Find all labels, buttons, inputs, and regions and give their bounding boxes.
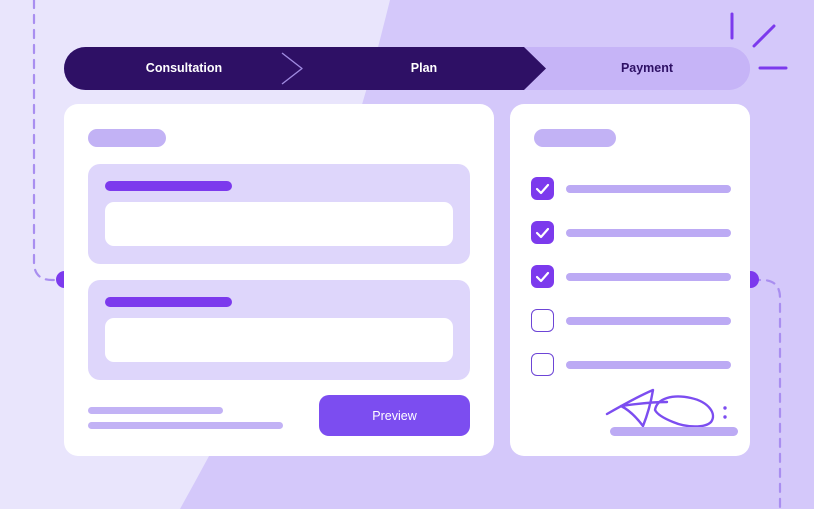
checkbox-checked-icon-1[interactable] [531, 177, 554, 200]
field-input-2[interactable] [105, 318, 453, 362]
checklist-item-5[interactable] [531, 353, 731, 377]
signature-baseline [610, 427, 738, 436]
signature-area[interactable] [595, 386, 740, 444]
progress-stepper[interactable]: Consultation Plan Payment [64, 47, 750, 90]
checklist-item-1[interactable] [531, 177, 731, 201]
checklist-card [510, 104, 750, 456]
form-card-title-placeholder [88, 129, 166, 147]
screen-root: Consultation Plan Payment Preview [0, 0, 814, 509]
form-footer-note-line-1 [88, 407, 223, 414]
checklist-label-placeholder-5 [566, 361, 731, 369]
field-input-1[interactable] [105, 202, 453, 246]
checklist-label-placeholder-3 [566, 273, 731, 281]
form-field-group-2 [88, 280, 470, 380]
field-label-placeholder-1 [105, 181, 232, 191]
checkbox-checked-icon-3[interactable] [531, 265, 554, 288]
checklist-card-title-placeholder [534, 129, 616, 147]
form-footer-note-line-2 [88, 422, 283, 429]
form-field-group-1 [88, 164, 470, 264]
preview-button[interactable]: Preview [319, 395, 470, 436]
field-label-placeholder-2 [105, 297, 232, 307]
checklist-label-placeholder-2 [566, 229, 731, 237]
stepper-step-payment[interactable]: Payment [544, 47, 750, 90]
checklist-label-placeholder-4 [566, 317, 731, 325]
checkbox-checked-icon-2[interactable] [531, 221, 554, 244]
form-card: Preview [64, 104, 494, 456]
signature-scribble-icon [595, 386, 740, 430]
checkbox-unchecked-icon-4[interactable] [531, 309, 554, 332]
stepper-step-plan[interactable]: Plan [304, 47, 544, 90]
checklist-label-placeholder-1 [566, 185, 731, 193]
checklist-item-2[interactable] [531, 221, 731, 245]
checklist-item-4[interactable] [531, 309, 731, 333]
stepper-step-consultation[interactable]: Consultation [64, 47, 304, 90]
checkbox-unchecked-icon-5[interactable] [531, 353, 554, 376]
checklist-item-3[interactable] [531, 265, 731, 289]
